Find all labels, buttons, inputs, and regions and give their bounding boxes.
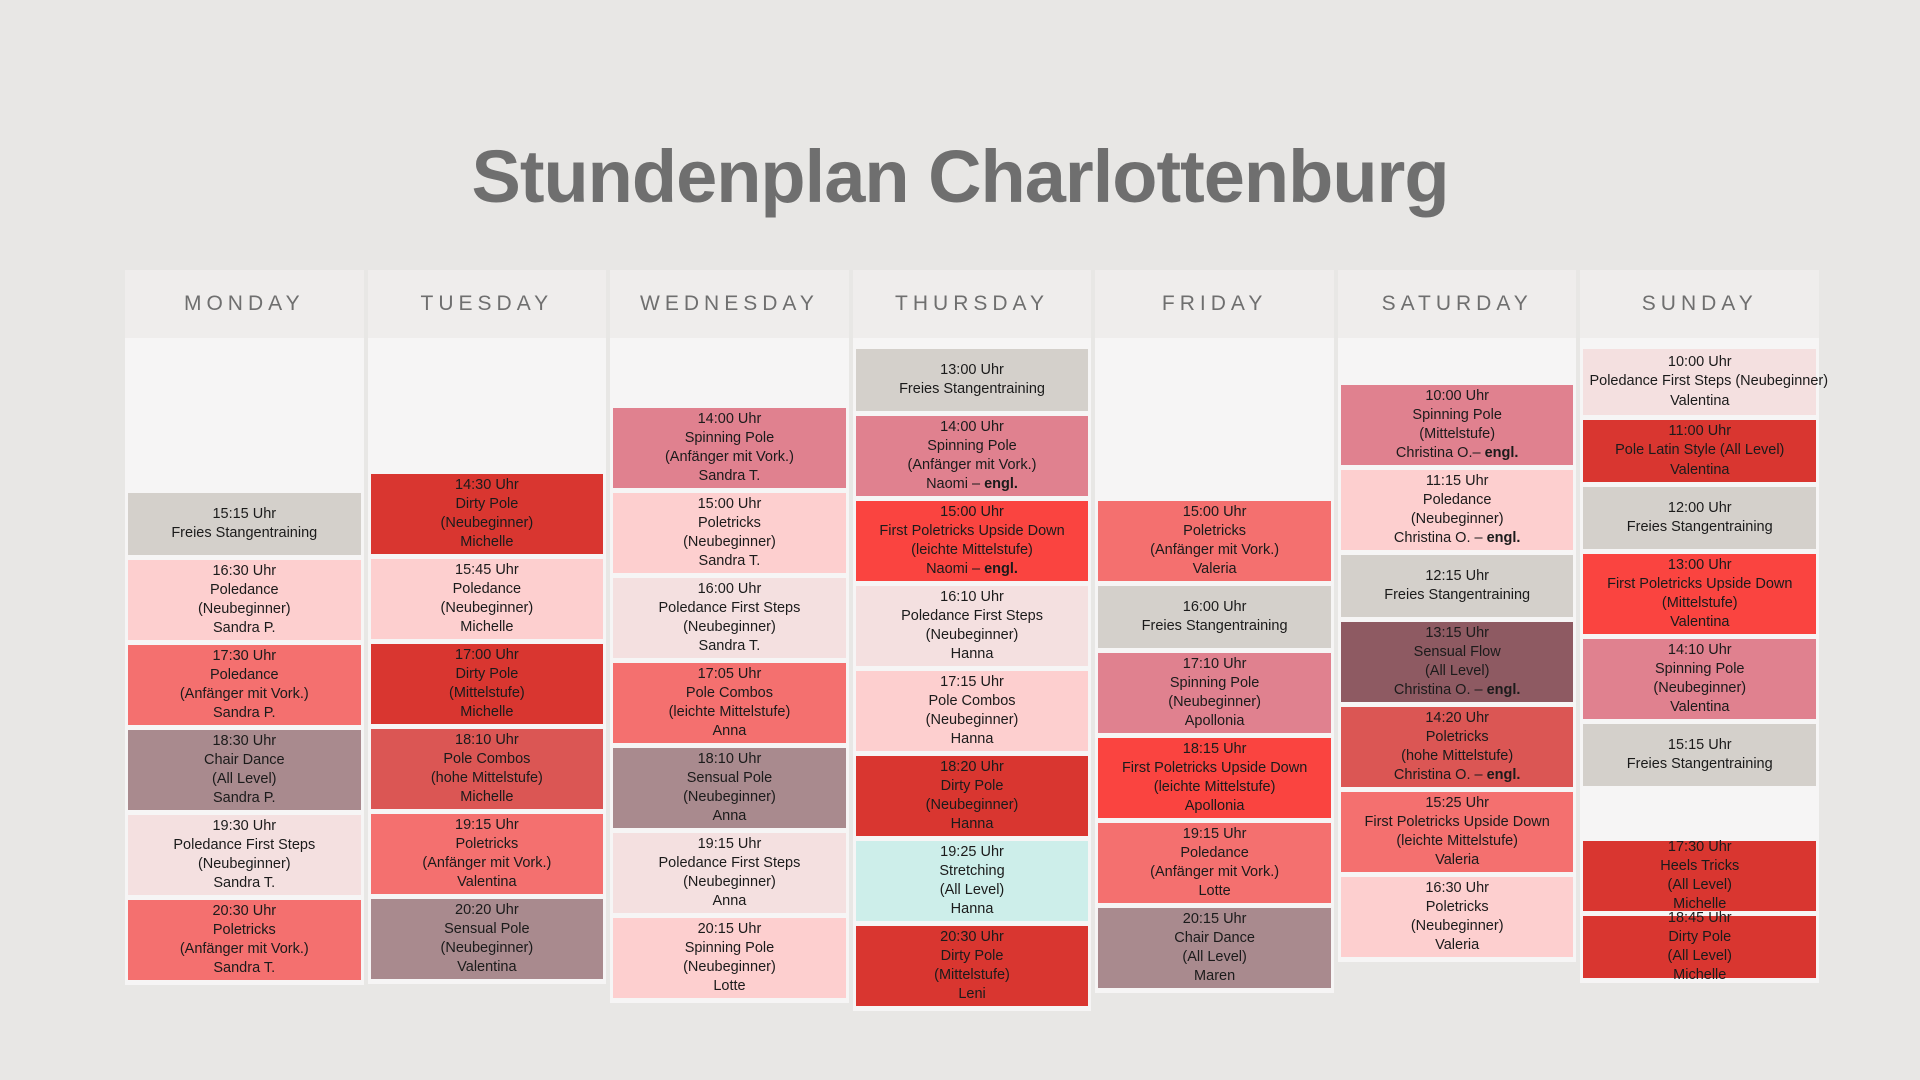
class-time: 20:20 Uhr	[377, 901, 598, 920]
class-instructor: Naomi – engl.	[862, 560, 1083, 579]
class-instructor: Valentina	[377, 873, 598, 892]
class-time: 15:15 Uhr	[1589, 736, 1810, 755]
class-level: (Mittelstufe)	[377, 684, 598, 703]
class-instructor: Sandra P.	[134, 704, 355, 723]
class-instructor: Valentina	[377, 958, 598, 977]
class-name: Poledance First Steps	[862, 607, 1083, 626]
class-level: (All Level)	[862, 881, 1083, 900]
class-time: 18:15 Uhr	[1104, 740, 1325, 759]
class-name: Freies Stangentraining	[1589, 518, 1810, 537]
class-slot[interactable]: 16:00 UhrFreies Stangentraining	[1098, 586, 1331, 648]
day-body: 15:00 UhrPoletricks(Anfänger mit Vork.)V…	[1095, 338, 1334, 993]
class-slot[interactable]: 20:15 UhrChair Dance(All Level)Maren	[1098, 908, 1331, 988]
class-level: (Anfänger mit Vork.)	[134, 685, 355, 704]
class-name: Poledance First Steps	[134, 836, 355, 855]
class-instructor: Leni	[862, 985, 1083, 1004]
class-level: (Neubeginner)	[619, 618, 840, 637]
class-name: Freies Stangentraining	[1589, 755, 1810, 774]
class-instructor: Sandra T.	[134, 874, 355, 893]
class-instructor: Valeria	[1104, 560, 1325, 579]
class-instructor: Lotte	[1104, 882, 1325, 901]
day-header-tuesday: TUESDAY	[368, 270, 607, 338]
class-instructor: Michelle	[377, 788, 598, 807]
class-time: 20:15 Uhr	[1104, 910, 1325, 929]
class-level: (leichte Mittelstufe)	[1104, 778, 1325, 797]
class-time: 20:30 Uhr	[862, 928, 1083, 947]
class-time: 14:20 Uhr	[1347, 709, 1568, 728]
class-instructor: Michelle	[377, 703, 598, 722]
day-header-thursday: THURSDAY	[853, 270, 1092, 338]
class-time: 17:30 Uhr	[1589, 838, 1810, 857]
class-time: 14:30 Uhr	[377, 476, 598, 495]
class-name: Poledance	[134, 581, 355, 600]
day-column-tuesday: TUESDAY14:30 UhrDirty Pole(Neubeginner)M…	[368, 270, 607, 984]
class-time: 15:00 Uhr	[1104, 503, 1325, 522]
class-name: First Poletricks Upside Down	[1589, 575, 1810, 594]
class-slot[interactable]: 14:00 UhrSpinning Pole(Anfänger mit Vork…	[856, 416, 1089, 496]
class-instructor: Christina O. – engl.	[1347, 529, 1568, 548]
empty-slot	[1583, 338, 1816, 344]
day-header-saturday: SATURDAY	[1338, 270, 1577, 338]
class-slot[interactable]: 13:00 UhrFirst Poletricks Upside Down(Mi…	[1583, 554, 1816, 634]
class-instructor: Hanna	[862, 730, 1083, 749]
class-name: Stretching	[862, 862, 1083, 881]
class-instructor: Valeria	[1347, 851, 1568, 870]
class-level: (Neubeginner)	[1589, 679, 1810, 698]
class-name: Sensual Pole	[377, 920, 598, 939]
empty-slot	[1098, 338, 1331, 496]
class-level: (Anfänger mit Vork.)	[1104, 541, 1325, 560]
class-name: Pole Latin Style (All Level)	[1589, 441, 1810, 460]
class-slot[interactable]: 19:15 UhrPoledance First Steps(Neubeginn…	[613, 833, 846, 913]
class-name: Poletricks	[1347, 898, 1568, 917]
class-level: (hohe Mittelstufe)	[377, 769, 598, 788]
class-slot[interactable]: 15:15 UhrFreies Stangentraining	[128, 493, 361, 555]
class-time: 20:30 Uhr	[134, 902, 355, 921]
class-instructor: Christina O. – engl.	[1347, 681, 1568, 700]
class-slot[interactable]: 18:10 UhrPole Combos(hohe Mittelstufe)Mi…	[371, 729, 604, 809]
class-slot[interactable]: 20:20 UhrSensual Pole(Neubeginner)Valent…	[371, 899, 604, 979]
day-body: 15:15 UhrFreies Stangentraining16:30 Uhr…	[125, 338, 364, 985]
class-instructor: Apollonia	[1104, 712, 1325, 731]
day-column-saturday: SATURDAY10:00 UhrSpinning Pole(Mittelstu…	[1338, 270, 1577, 962]
class-name: Spinning Pole	[1347, 406, 1568, 425]
class-time: 10:00 Uhr	[1589, 353, 1810, 372]
day-column-monday: MONDAY15:15 UhrFreies Stangentraining16:…	[125, 270, 364, 985]
class-slot[interactable]: 16:30 UhrPoletricks(Neubeginner)Valeria	[1341, 877, 1574, 957]
empty-slot	[856, 338, 1089, 344]
class-instructor: Sandra T.	[619, 467, 840, 486]
class-level: (Neubeginner)	[134, 600, 355, 619]
class-slot[interactable]: 15:00 UhrPoletricks(Neubeginner)Sandra T…	[613, 493, 846, 573]
class-time: 19:15 Uhr	[619, 835, 840, 854]
class-slot[interactable]: 14:00 UhrSpinning Pole(Anfänger mit Vork…	[613, 408, 846, 488]
class-time: 14:10 Uhr	[1589, 641, 1810, 660]
day-header-wednesday: WEDNESDAY	[610, 270, 849, 338]
class-time: 19:15 Uhr	[1104, 825, 1325, 844]
empty-slot	[128, 338, 361, 488]
class-name: Dirty Pole	[377, 665, 598, 684]
class-time: 16:00 Uhr	[1104, 598, 1325, 617]
class-time: 15:45 Uhr	[377, 561, 598, 580]
class-instructor: Sandra T.	[619, 637, 840, 656]
class-time: 11:00 Uhr	[1589, 422, 1810, 441]
day-body: 14:30 UhrDirty Pole(Neubeginner)Michelle…	[368, 338, 607, 984]
class-level: (All Level)	[134, 770, 355, 789]
class-instructor: Michelle	[377, 533, 598, 552]
class-level: (Anfänger mit Vork.)	[134, 940, 355, 959]
class-time: 18:10 Uhr	[377, 731, 598, 750]
class-slot[interactable]: 12:00 UhrFreies Stangentraining	[1583, 487, 1816, 549]
class-slot[interactable]: 15:00 UhrFirst Poletricks Upside Down(le…	[856, 501, 1089, 581]
class-time: 11:15 Uhr	[1347, 472, 1568, 491]
class-level: (Neubeginner)	[619, 873, 840, 892]
class-level: (Anfänger mit Vork.)	[1104, 863, 1325, 882]
empty-slot	[371, 338, 604, 469]
class-time: 15:00 Uhr	[619, 495, 840, 514]
page-title: Stundenplan Charlottenburg	[0, 0, 1920, 214]
day-header-friday: FRIDAY	[1095, 270, 1334, 338]
class-name: Freies Stangentraining	[1347, 586, 1568, 605]
class-instructor: Anna	[619, 807, 840, 826]
class-time: 16:30 Uhr	[134, 562, 355, 581]
class-name: Poledance	[377, 580, 598, 599]
class-slot[interactable]: 17:10 UhrSpinning Pole(Neubeginner)Apoll…	[1098, 653, 1331, 733]
class-instructor: Sandra T.	[619, 552, 840, 571]
class-instructor: Hanna	[862, 815, 1083, 834]
class-slot[interactable]: 17:05 UhrPole Combos(leichte Mittelstufe…	[613, 663, 846, 743]
class-name: Dirty Pole	[862, 777, 1083, 796]
class-time: 15:15 Uhr	[134, 505, 355, 524]
class-name: Heels Tricks	[1589, 857, 1810, 876]
class-instructor: Lotte	[619, 977, 840, 996]
day-body: 14:00 UhrSpinning Pole(Anfänger mit Vork…	[610, 338, 849, 1003]
class-name: Sensual Pole	[619, 769, 840, 788]
class-slot[interactable]: 20:30 UhrPoletricks(Anfänger mit Vork.)S…	[128, 900, 361, 980]
class-slot[interactable]: 13:15 UhrSensual Flow(All Level)Christin…	[1341, 622, 1574, 702]
class-name: Freies Stangentraining	[134, 524, 355, 543]
class-name: Sensual Flow	[1347, 643, 1568, 662]
class-level: (Anfänger mit Vork.)	[377, 854, 598, 873]
class-level: (All Level)	[1104, 948, 1325, 967]
day-body: 10:00 UhrSpinning Pole(Mittelstufe)Chris…	[1338, 338, 1577, 962]
class-level: (Neubeginner)	[377, 939, 598, 958]
class-slot[interactable]: 19:15 UhrPoledance(Anfänger mit Vork.)Lo…	[1098, 823, 1331, 903]
class-name: Poletricks	[619, 514, 840, 533]
class-time: 16:10 Uhr	[862, 588, 1083, 607]
class-name: Freies Stangentraining	[1104, 617, 1325, 636]
class-time: 16:30 Uhr	[1347, 879, 1568, 898]
class-name: Poledance	[134, 666, 355, 685]
class-time: 13:00 Uhr	[1589, 556, 1810, 575]
class-instructor: Maren	[1104, 967, 1325, 986]
class-time: 18:20 Uhr	[862, 758, 1083, 777]
class-name: First Poletricks Upside Down	[1347, 813, 1568, 832]
class-level: Valentina	[1589, 392, 1810, 411]
class-name: Pole Combos	[377, 750, 598, 769]
class-instructor: Apollonia	[1104, 797, 1325, 816]
class-instructor: Sandra T.	[134, 959, 355, 978]
class-instructor: Valentina	[1589, 613, 1810, 632]
class-name: Poletricks	[134, 921, 355, 940]
class-level: (Mittelstufe)	[862, 966, 1083, 985]
class-slot[interactable]: 10:00 UhrSpinning Pole(Mittelstufe)Chris…	[1341, 385, 1574, 465]
class-slot[interactable]: 16:30 UhrPoledance(Neubeginner)Sandra P.	[128, 560, 361, 640]
class-time: 17:05 Uhr	[619, 665, 840, 684]
class-level: (Mittelstufe)	[1347, 425, 1568, 444]
class-instructor: Anna	[619, 722, 840, 741]
class-instructor: Sandra P.	[134, 619, 355, 638]
class-slot[interactable]: 18:20 UhrDirty Pole(Neubeginner)Hanna	[856, 756, 1089, 836]
class-slot[interactable]: 15:00 UhrPoletricks(Anfänger mit Vork.)V…	[1098, 501, 1331, 581]
class-name: Spinning Pole	[1589, 660, 1810, 679]
class-level: (Neubeginner)	[619, 533, 840, 552]
class-slot[interactable]: 10:00 UhrPoledance First Steps (Neubegin…	[1583, 349, 1816, 415]
day-column-thursday: THURSDAY13:00 UhrFreies Stangentraining1…	[853, 270, 1092, 1011]
class-name: First Poletricks Upside Down	[1104, 759, 1325, 778]
class-time: 20:15 Uhr	[619, 920, 840, 939]
class-name: Dirty Pole	[862, 947, 1083, 966]
class-time: 13:15 Uhr	[1347, 624, 1568, 643]
class-time: 12:15 Uhr	[1347, 567, 1568, 586]
class-slot[interactable]: 15:45 UhrPoledance(Neubeginner)Michelle	[371, 559, 604, 639]
class-level: (Neubeginner)	[862, 796, 1083, 815]
class-level: (Neubeginner)	[377, 514, 598, 533]
class-slot[interactable]: 14:20 UhrPoletricks(hohe Mittelstufe)Chr…	[1341, 707, 1574, 787]
class-slot[interactable]: 19:30 UhrPoledance First Steps(Neubeginn…	[128, 815, 361, 895]
class-instructor: Hanna	[862, 900, 1083, 919]
class-instructor: Valentina	[1589, 698, 1810, 717]
class-name: Poletricks	[1347, 728, 1568, 747]
class-instructor: Christina O.– engl.	[1347, 444, 1568, 463]
class-name: Poledance First Steps	[619, 854, 840, 873]
class-slot[interactable]: 11:00 UhrPole Latin Style (All Level)Val…	[1583, 420, 1816, 482]
class-level: (leichte Mittelstufe)	[1347, 832, 1568, 851]
class-time: 17:10 Uhr	[1104, 655, 1325, 674]
class-slot[interactable]: 17:30 UhrHeels Tricks(All Level)Michelle	[1583, 841, 1816, 911]
class-level: (All Level)	[1347, 662, 1568, 681]
class-level: Valentina	[1589, 461, 1810, 480]
class-slot[interactable]: 15:15 UhrFreies Stangentraining	[1583, 724, 1816, 786]
class-slot[interactable]: 14:10 UhrSpinning Pole(Neubeginner)Valen…	[1583, 639, 1816, 719]
class-name: Spinning Pole	[619, 939, 840, 958]
class-instructor: Naomi – engl.	[862, 475, 1083, 494]
class-time: 12:00 Uhr	[1589, 499, 1810, 518]
class-slot[interactable]: 16:00 UhrPoledance First Steps(Neubeginn…	[613, 578, 846, 658]
class-time: 19:30 Uhr	[134, 817, 355, 836]
class-name: Poledance First Steps	[619, 599, 840, 618]
class-name: Poledance First Steps (Neubeginner)	[1589, 372, 1810, 391]
schedule-grid: MONDAY15:15 UhrFreies Stangentraining16:…	[125, 270, 1819, 1011]
class-level: (Neubeginner)	[862, 711, 1083, 730]
class-slot[interactable]: 15:25 UhrFirst Poletricks Upside Down(le…	[1341, 792, 1574, 872]
class-time: 17:00 Uhr	[377, 646, 598, 665]
class-level: (Neubeginner)	[619, 958, 840, 977]
class-slot[interactable]: 19:25 UhrStretching(All Level)Hanna	[856, 841, 1089, 921]
class-time: 18:30 Uhr	[134, 732, 355, 751]
class-name: Dirty Pole	[377, 495, 598, 514]
schedule-page: Stundenplan Charlottenburg MONDAY15:15 U…	[0, 0, 1920, 1080]
class-level: (Neubeginner)	[134, 855, 355, 874]
class-name: Freies Stangentraining	[862, 380, 1083, 399]
class-level: (Neubeginner)	[619, 788, 840, 807]
class-instructor: Hanna	[862, 645, 1083, 664]
class-slot[interactable]: 20:15 UhrSpinning Pole(Neubeginner)Lotte	[613, 918, 846, 998]
empty-slot	[613, 338, 846, 403]
class-level: (Mittelstufe)	[1589, 594, 1810, 613]
class-level: (All Level)	[1589, 947, 1810, 966]
class-time: 19:15 Uhr	[377, 816, 598, 835]
class-name: First Poletricks Upside Down	[862, 522, 1083, 541]
day-body: 13:00 UhrFreies Stangentraining14:00 Uhr…	[853, 338, 1092, 1011]
class-instructor: Christina O. – engl.	[1347, 766, 1568, 785]
class-level: (Neubeginner)	[862, 626, 1083, 645]
day-header-monday: MONDAY	[125, 270, 364, 338]
class-level: (leichte Mittelstufe)	[619, 703, 840, 722]
class-slot[interactable]: 18:15 UhrFirst Poletricks Upside Down(le…	[1098, 738, 1331, 818]
class-level: (leichte Mittelstufe)	[862, 541, 1083, 560]
class-slot[interactable]: 11:15 UhrPoledance(Neubeginner)Christina…	[1341, 470, 1574, 550]
class-slot[interactable]: 19:15 UhrPoletricks(Anfänger mit Vork.)V…	[371, 814, 604, 894]
day-column-wednesday: WEDNESDAY14:00 UhrSpinning Pole(Anfänger…	[610, 270, 849, 1003]
class-slot[interactable]: 17:15 UhrPole Combos(Neubeginner)Hanna	[856, 671, 1089, 751]
day-column-friday: FRIDAY15:00 UhrPoletricks(Anfänger mit V…	[1095, 270, 1334, 993]
class-name: Poledance	[1104, 844, 1325, 863]
class-slot[interactable]: 17:00 UhrDirty Pole(Mittelstufe)Michelle	[371, 644, 604, 724]
class-name: Poletricks	[1104, 522, 1325, 541]
class-time: 13:00 Uhr	[862, 361, 1083, 380]
class-level: (hohe Mittelstufe)	[1347, 747, 1568, 766]
class-instructor: Michelle	[377, 618, 598, 637]
class-slot[interactable]: 18:10 UhrSensual Pole(Neubeginner)Anna	[613, 748, 846, 828]
class-time: 15:25 Uhr	[1347, 794, 1568, 813]
class-time: 17:30 Uhr	[134, 647, 355, 666]
class-name: Spinning Pole	[1104, 674, 1325, 693]
class-name: Pole Combos	[619, 684, 840, 703]
class-name: Poledance	[1347, 491, 1568, 510]
class-instructor: Sandra P.	[134, 789, 355, 808]
day-column-sunday: SUNDAY10:00 UhrPoledance First Steps (Ne…	[1580, 270, 1819, 983]
class-time: 18:45 Uhr	[1589, 909, 1810, 928]
class-name: Poletricks	[377, 835, 598, 854]
class-level: (Neubeginner)	[1347, 510, 1568, 529]
class-name: Pole Combos	[862, 692, 1083, 711]
class-level: (Neubeginner)	[377, 599, 598, 618]
class-slot[interactable]: 20:30 UhrDirty Pole(Mittelstufe)Leni	[856, 926, 1089, 1006]
class-time: 14:00 Uhr	[619, 410, 840, 429]
class-slot[interactable]: 12:15 UhrFreies Stangentraining	[1341, 555, 1574, 617]
class-name: Chair Dance	[134, 751, 355, 770]
class-name: Chair Dance	[1104, 929, 1325, 948]
class-slot[interactable]: 16:10 UhrPoledance First Steps(Neubeginn…	[856, 586, 1089, 666]
class-slot[interactable]: 17:30 UhrPoledance(Anfänger mit Vork.)Sa…	[128, 645, 361, 725]
class-time: 18:10 Uhr	[619, 750, 840, 769]
class-instructor: Valeria	[1347, 936, 1568, 955]
class-level: (Anfänger mit Vork.)	[862, 456, 1083, 475]
class-time: 19:25 Uhr	[862, 843, 1083, 862]
day-header-sunday: SUNDAY	[1580, 270, 1819, 338]
class-instructor: Michelle	[1589, 966, 1810, 985]
class-slot[interactable]: 13:00 UhrFreies Stangentraining	[856, 349, 1089, 411]
class-time: 15:00 Uhr	[862, 503, 1083, 522]
class-name: Spinning Pole	[619, 429, 840, 448]
empty-slot	[1583, 791, 1816, 836]
class-time: 17:15 Uhr	[862, 673, 1083, 692]
class-instructor: Anna	[619, 892, 840, 911]
empty-slot	[1341, 338, 1574, 380]
class-level: (Neubeginner)	[1347, 917, 1568, 936]
class-level: (Anfänger mit Vork.)	[619, 448, 840, 467]
class-level: (Neubeginner)	[1104, 693, 1325, 712]
class-slot[interactable]: 18:45 UhrDirty Pole(All Level)Michelle	[1583, 916, 1816, 978]
class-time: 14:00 Uhr	[862, 418, 1083, 437]
day-body: 10:00 UhrPoledance First Steps (Neubegin…	[1580, 338, 1819, 983]
class-name: Dirty Pole	[1589, 928, 1810, 947]
class-time: 16:00 Uhr	[619, 580, 840, 599]
class-level: (All Level)	[1589, 876, 1810, 895]
class-slot[interactable]: 14:30 UhrDirty Pole(Neubeginner)Michelle	[371, 474, 604, 554]
class-time: 10:00 Uhr	[1347, 387, 1568, 406]
class-name: Spinning Pole	[862, 437, 1083, 456]
class-slot[interactable]: 18:30 UhrChair Dance(All Level)Sandra P.	[128, 730, 361, 810]
